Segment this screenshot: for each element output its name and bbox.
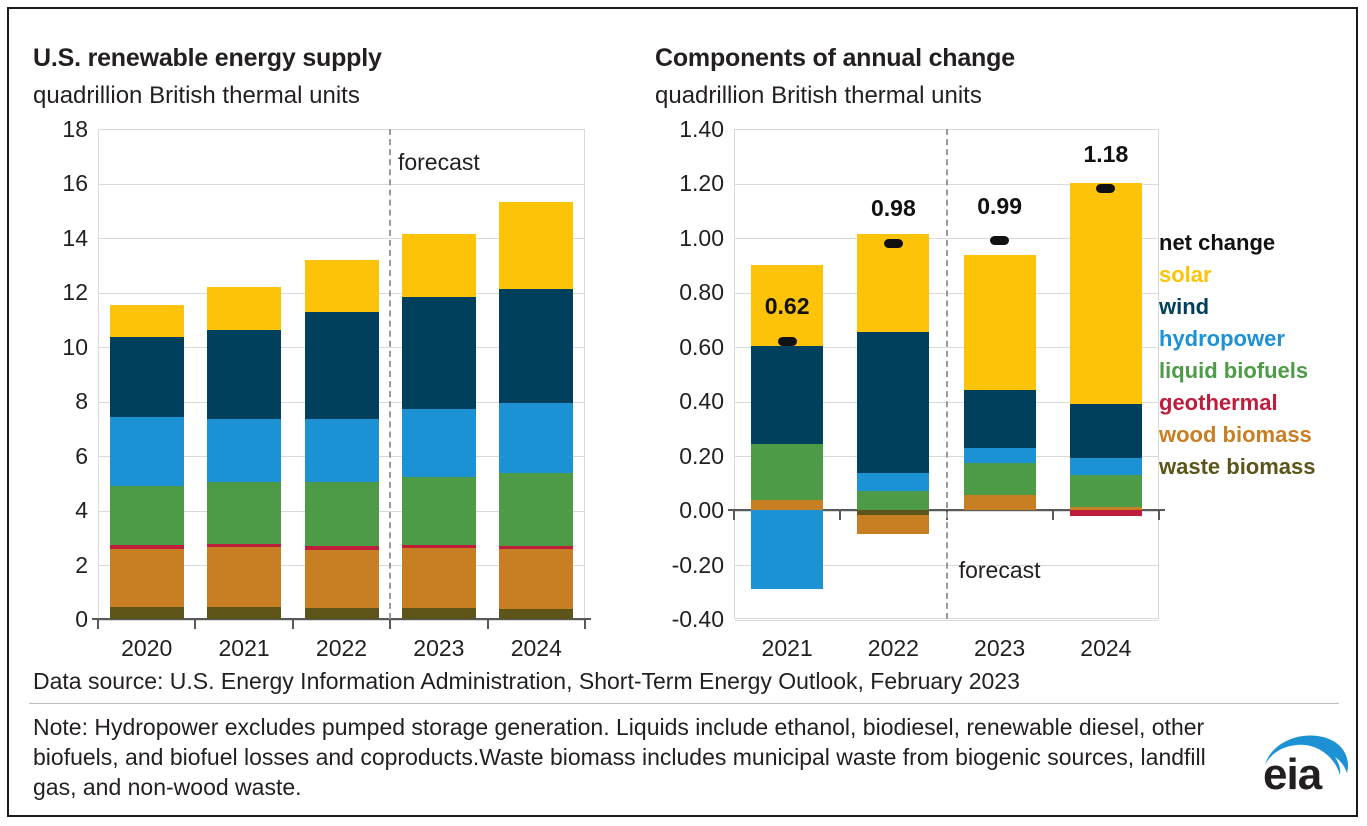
bar-segment-wood-biomass bbox=[499, 549, 573, 608]
bar-segment-hydropower bbox=[751, 510, 823, 589]
y-axis-tick-label: 2 bbox=[44, 554, 88, 577]
net-change-marker bbox=[990, 236, 1009, 245]
bar-2024[interactable] bbox=[1070, 129, 1142, 619]
chart-title-annual-change: Components of annual change bbox=[655, 44, 1015, 73]
bar-segment-solar bbox=[499, 202, 573, 289]
y-axis-tick-label: 4 bbox=[44, 499, 88, 522]
forecast-divider bbox=[946, 129, 948, 619]
net-change-value-label: 0.98 bbox=[848, 197, 938, 220]
bar-segment-wood-biomass bbox=[751, 500, 823, 510]
bar-segment-wind bbox=[110, 337, 184, 417]
x-axis-tick-mark bbox=[839, 509, 841, 520]
x-axis-tick-label: 2021 bbox=[734, 637, 840, 660]
x-axis-tick-mark bbox=[97, 618, 99, 629]
y-axis-tick-label: 0.00 bbox=[646, 499, 724, 522]
legend-item-solar[interactable]: solar bbox=[1159, 259, 1316, 291]
figure-frame: U.S. renewable energy supply quadrillion… bbox=[7, 7, 1358, 817]
bar-segment-wood-biomass bbox=[110, 549, 184, 608]
forecast-label: forecast bbox=[930, 559, 1070, 582]
x-axis-tick-mark bbox=[584, 618, 586, 629]
bar-segment-hydropower bbox=[857, 473, 929, 491]
bar-segment-waste-biomass bbox=[305, 608, 379, 619]
footer-divider bbox=[29, 703, 1339, 704]
y-axis-tick-label: 0.80 bbox=[646, 281, 724, 304]
legend-item-geothermal[interactable]: geothermal bbox=[1159, 387, 1316, 419]
bar-segment-wind bbox=[964, 390, 1036, 449]
forecast-divider bbox=[389, 129, 391, 619]
bar-segment-geothermal bbox=[207, 544, 281, 548]
x-axis-tick-label: 2023 bbox=[947, 637, 1053, 660]
bar-segment-wood-biomass bbox=[305, 550, 379, 608]
net-change-value-label: 1.18 bbox=[1061, 143, 1151, 166]
bar-segment-wind bbox=[1070, 404, 1142, 458]
gridline bbox=[735, 620, 1158, 621]
bar-2022[interactable] bbox=[305, 129, 379, 619]
y-axis-tick-label: 0.20 bbox=[646, 445, 724, 468]
x-axis-tick-label: 2021 bbox=[195, 637, 292, 660]
bar-segment-solar bbox=[964, 255, 1036, 390]
net-change-marker bbox=[884, 239, 903, 248]
bar-segment-liquid-biofuels bbox=[1070, 475, 1142, 508]
legend-item-wind[interactable]: wind bbox=[1159, 291, 1316, 323]
bar-segment-wind bbox=[207, 330, 281, 420]
bar-segment-hydropower bbox=[305, 419, 379, 482]
y-axis-tick-label: 6 bbox=[44, 445, 88, 468]
bar-segment-solar bbox=[305, 260, 379, 312]
bar-segment-waste-biomass bbox=[110, 607, 184, 619]
bar-segment-liquid-biofuels bbox=[857, 491, 929, 510]
net-change-value-label: 0.62 bbox=[742, 295, 832, 318]
x-axis-tick-label: 2024 bbox=[488, 637, 585, 660]
y-axis-tick-label: -0.20 bbox=[646, 554, 724, 577]
bar-segment-hydropower bbox=[207, 419, 281, 481]
bar-segment-wind bbox=[499, 289, 573, 404]
legend-item-wood-biomass[interactable]: wood biomass bbox=[1159, 419, 1316, 451]
x-axis-tick-mark bbox=[733, 509, 735, 520]
bar-segment-geothermal bbox=[1070, 510, 1142, 516]
bar-segment-solar bbox=[1070, 183, 1142, 404]
y-axis-tick-label: 1.40 bbox=[646, 118, 724, 141]
y-axis-tick-label: 0 bbox=[44, 608, 88, 631]
bar-segment-waste-biomass bbox=[402, 608, 476, 619]
bar-segment-wind bbox=[857, 332, 929, 474]
y-axis-tick-label: 14 bbox=[44, 227, 88, 250]
bar-segment-hydropower bbox=[499, 403, 573, 473]
bar-2021[interactable] bbox=[751, 129, 823, 619]
y-axis-tick-label: 16 bbox=[44, 172, 88, 195]
bar-segment-liquid-biofuels bbox=[305, 482, 379, 547]
bar-segment-wood-biomass bbox=[207, 547, 281, 607]
chart-panel-annual-change: Components of annual change quadrillion … bbox=[629, 9, 1189, 659]
bar-segment-solar bbox=[402, 234, 476, 297]
bar-2024[interactable] bbox=[499, 129, 573, 619]
y-axis-tick-label: 1.00 bbox=[646, 227, 724, 250]
bar-segment-waste-biomass bbox=[499, 609, 573, 619]
eia-logo: eia bbox=[1261, 731, 1353, 797]
bar-segment-hydropower bbox=[964, 448, 1036, 463]
net-change-marker bbox=[1096, 184, 1115, 193]
net-change-marker bbox=[778, 337, 797, 346]
x-axis-tick-label: 2023 bbox=[390, 637, 487, 660]
bar-segment-liquid-biofuels bbox=[110, 486, 184, 545]
bar-2021[interactable] bbox=[207, 129, 281, 619]
bar-segment-wood-biomass bbox=[964, 495, 1036, 510]
bar-segment-hydropower bbox=[402, 409, 476, 477]
x-axis-tick-mark bbox=[292, 618, 294, 629]
x-axis-tick-label: 2022 bbox=[293, 637, 390, 660]
bar-segment-liquid-biofuels bbox=[402, 477, 476, 545]
x-axis-tick-label: 2020 bbox=[98, 637, 195, 660]
y-axis-tick-label: 18 bbox=[44, 118, 88, 141]
bar-segment-wind bbox=[751, 346, 823, 444]
bar-segment-waste-biomass bbox=[207, 607, 281, 619]
y-axis-tick-label: 0.40 bbox=[646, 390, 724, 413]
bar-segment-geothermal bbox=[110, 545, 184, 549]
bar-segment-liquid-biofuels bbox=[499, 473, 573, 546]
y-axis-tick-label: 10 bbox=[44, 336, 88, 359]
chart-title-supply: U.S. renewable energy supply bbox=[33, 44, 382, 73]
legend-item-waste-biomass[interactable]: waste biomass bbox=[1159, 451, 1316, 483]
y-axis-tick-label: 0.60 bbox=[646, 336, 724, 359]
legend-item-liquid-biofuels[interactable]: liquid biofuels bbox=[1159, 355, 1316, 387]
y-axis-tick-label: -0.40 bbox=[646, 608, 724, 631]
x-axis-tick-label: 2022 bbox=[840, 637, 946, 660]
forecast-label: forecast bbox=[369, 151, 509, 174]
y-axis-tick-label: 1.20 bbox=[646, 172, 724, 195]
bar-segment-geothermal bbox=[499, 546, 573, 549]
x-axis-tick-mark bbox=[1158, 509, 1160, 520]
bar-segment-liquid-biofuels bbox=[964, 463, 1036, 495]
net-change-value-label: 0.99 bbox=[955, 195, 1045, 218]
svg-text:eia: eia bbox=[1263, 750, 1323, 797]
bar-segment-geothermal bbox=[402, 545, 476, 548]
legend-item-net-change[interactable]: net change bbox=[1159, 227, 1316, 259]
chart-panel-supply: U.S. renewable energy supply quadrillion… bbox=[9, 9, 629, 659]
x-axis-tick-mark bbox=[194, 618, 196, 629]
y-axis-tick-label: 8 bbox=[44, 390, 88, 413]
data-source-text: Data source: U.S. Energy Information Adm… bbox=[33, 668, 1020, 695]
bar-segment-solar bbox=[110, 305, 184, 338]
bar-segment-solar bbox=[857, 234, 929, 332]
bar-segment-wind bbox=[402, 297, 476, 409]
bar-2020[interactable] bbox=[110, 129, 184, 619]
bar-segment-solar bbox=[207, 287, 281, 330]
x-axis-tick-mark bbox=[487, 618, 489, 629]
bar-segment-liquid-biofuels bbox=[207, 482, 281, 544]
bar-segment-liquid-biofuels bbox=[751, 444, 823, 500]
bar-segment-geothermal bbox=[305, 546, 379, 549]
bar-segment-hydropower bbox=[110, 417, 184, 486]
bar-segment-wind bbox=[305, 312, 379, 419]
bar-segment-wood-biomass bbox=[402, 548, 476, 608]
chart-subtitle-annual-change: quadrillion British thermal units bbox=[655, 82, 982, 110]
note-text: Note: Hydropower excludes pumped storage… bbox=[33, 712, 1213, 802]
chart-subtitle-supply: quadrillion British thermal units bbox=[33, 82, 360, 110]
bar-segment-wood-biomass bbox=[857, 515, 929, 534]
bar-2023[interactable] bbox=[402, 129, 476, 619]
x-axis-tick-mark bbox=[1052, 509, 1054, 520]
legend-item-hydropower[interactable]: hydropower bbox=[1159, 323, 1316, 355]
bar-segment-hydropower bbox=[1070, 458, 1142, 474]
legend: net changesolarwindhydropowerliquid biof… bbox=[1159, 227, 1316, 483]
x-axis-tick-label: 2024 bbox=[1053, 637, 1159, 660]
x-axis-tick-mark bbox=[389, 618, 391, 629]
y-axis-tick-label: 12 bbox=[44, 281, 88, 304]
